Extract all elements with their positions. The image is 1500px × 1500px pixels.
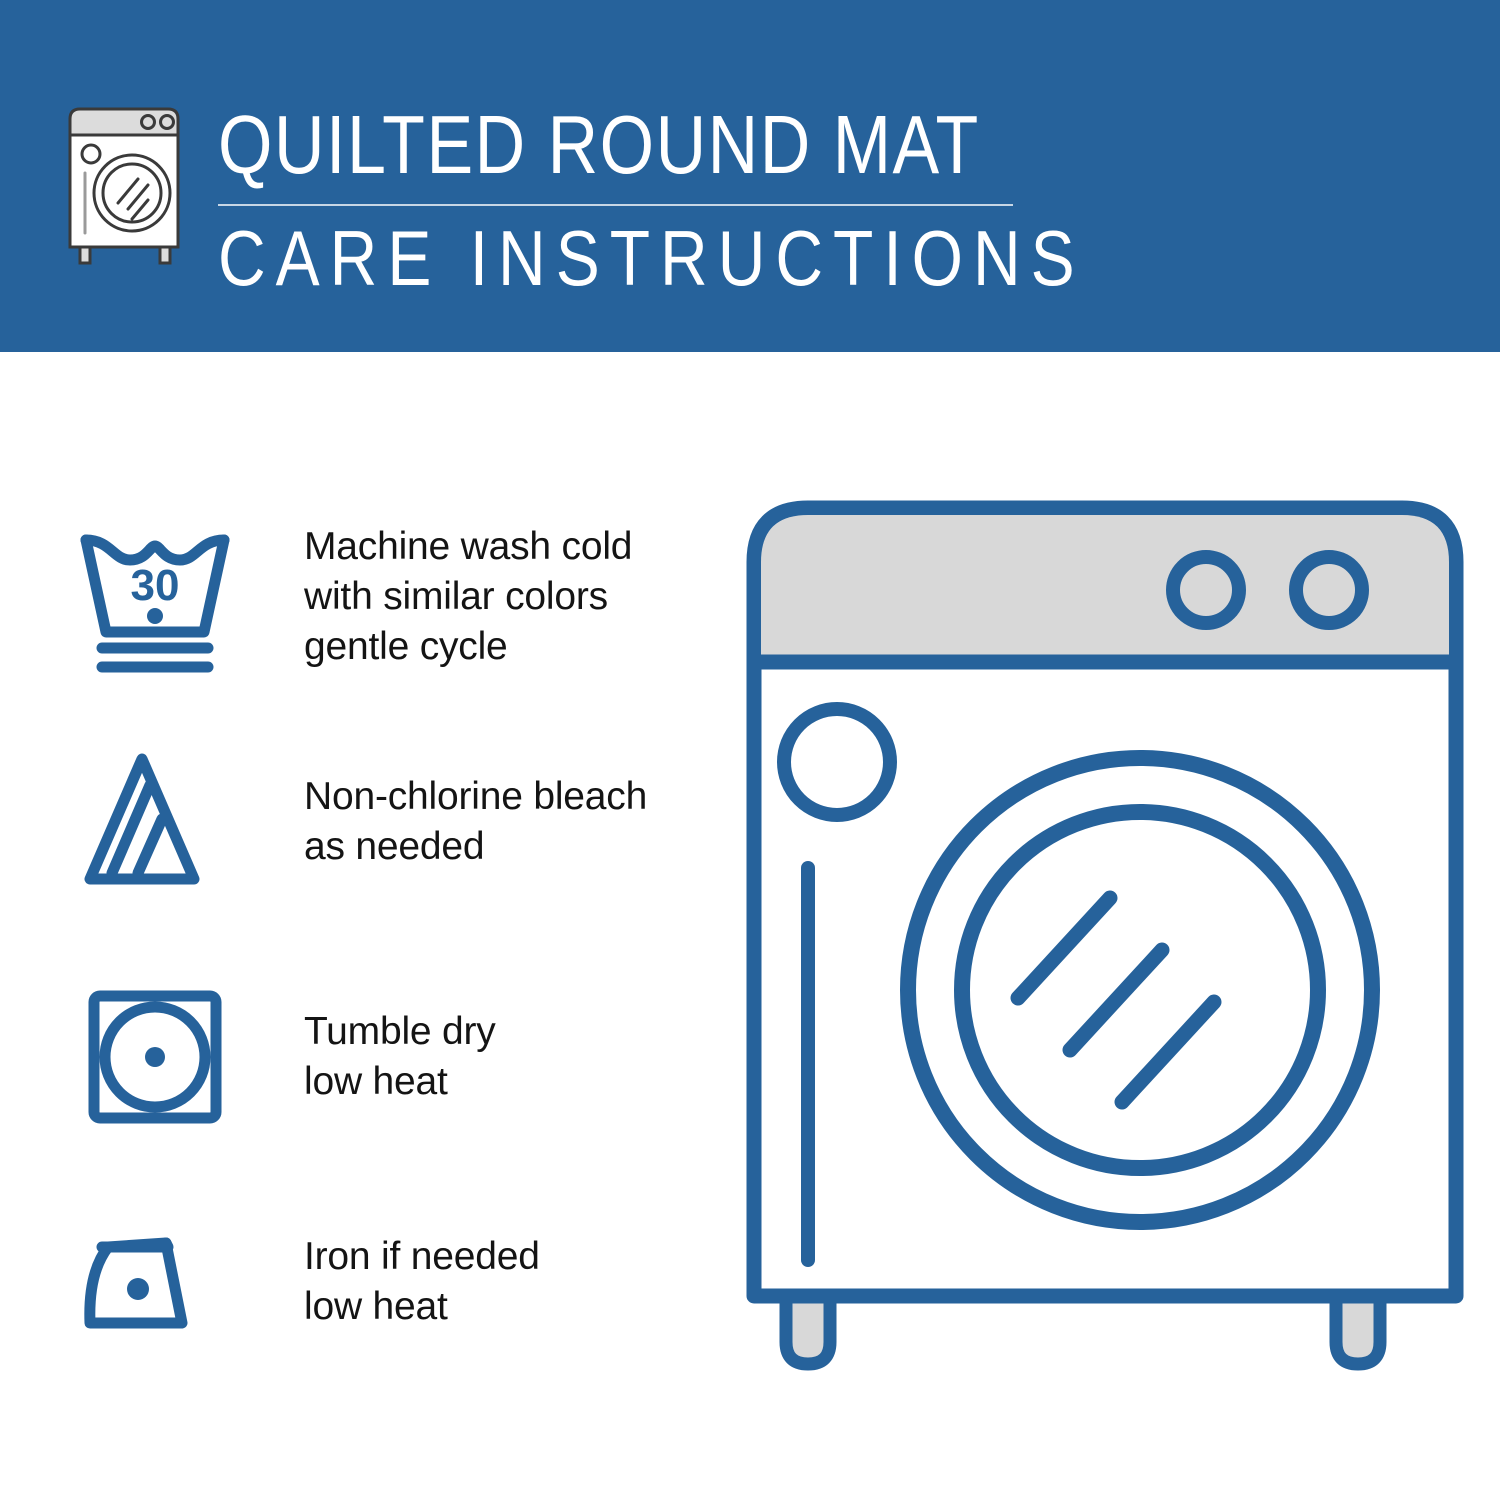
care-row: Tumble dry low heat — [70, 972, 710, 1142]
care-row: 30 Machine wash cold with similar colors… — [70, 512, 710, 682]
care-row-label: Iron if needed low heat — [304, 1232, 540, 1332]
header-text-block: QUILTED ROUND MAT CARE INSTRUCTIONS — [218, 100, 1018, 288]
care-row: Iron if needed low heat — [70, 1197, 710, 1367]
care-row-label: Non-chlorine bleach as needed — [304, 772, 647, 872]
wash-temp-label: 30 — [131, 561, 180, 610]
header-banner: QUILTED ROUND MAT CARE INSTRUCTIONS — [0, 0, 1500, 352]
page-title: QUILTED ROUND MAT — [218, 100, 1018, 190]
tumble-dry-low-icon — [70, 972, 240, 1142]
care-instructions-page: QUILTED ROUND MAT CARE INSTRUCTIONS 30 — [0, 0, 1500, 1500]
care-instructions-list: 30 Machine wash cold with similar colors… — [0, 352, 740, 1500]
front-load-washing-machine-illustration — [740, 490, 1470, 1410]
care-row: Non-chlorine bleach as needed — [70, 737, 710, 907]
page-subtitle: CARE INSTRUCTIONS — [218, 214, 1018, 301]
wash-tub-30-icon: 30 — [70, 512, 240, 682]
non-chlorine-bleach-triangle-icon — [70, 737, 240, 907]
iron-low-heat-icon — [70, 1197, 240, 1367]
care-row-label: Machine wash cold with similar colors ge… — [304, 522, 632, 672]
washer-control-panel — [761, 515, 1449, 662]
washing-machine-icon — [62, 105, 192, 265]
care-row-label: Tumble dry low heat — [304, 1007, 496, 1107]
title-divider — [218, 204, 1013, 206]
